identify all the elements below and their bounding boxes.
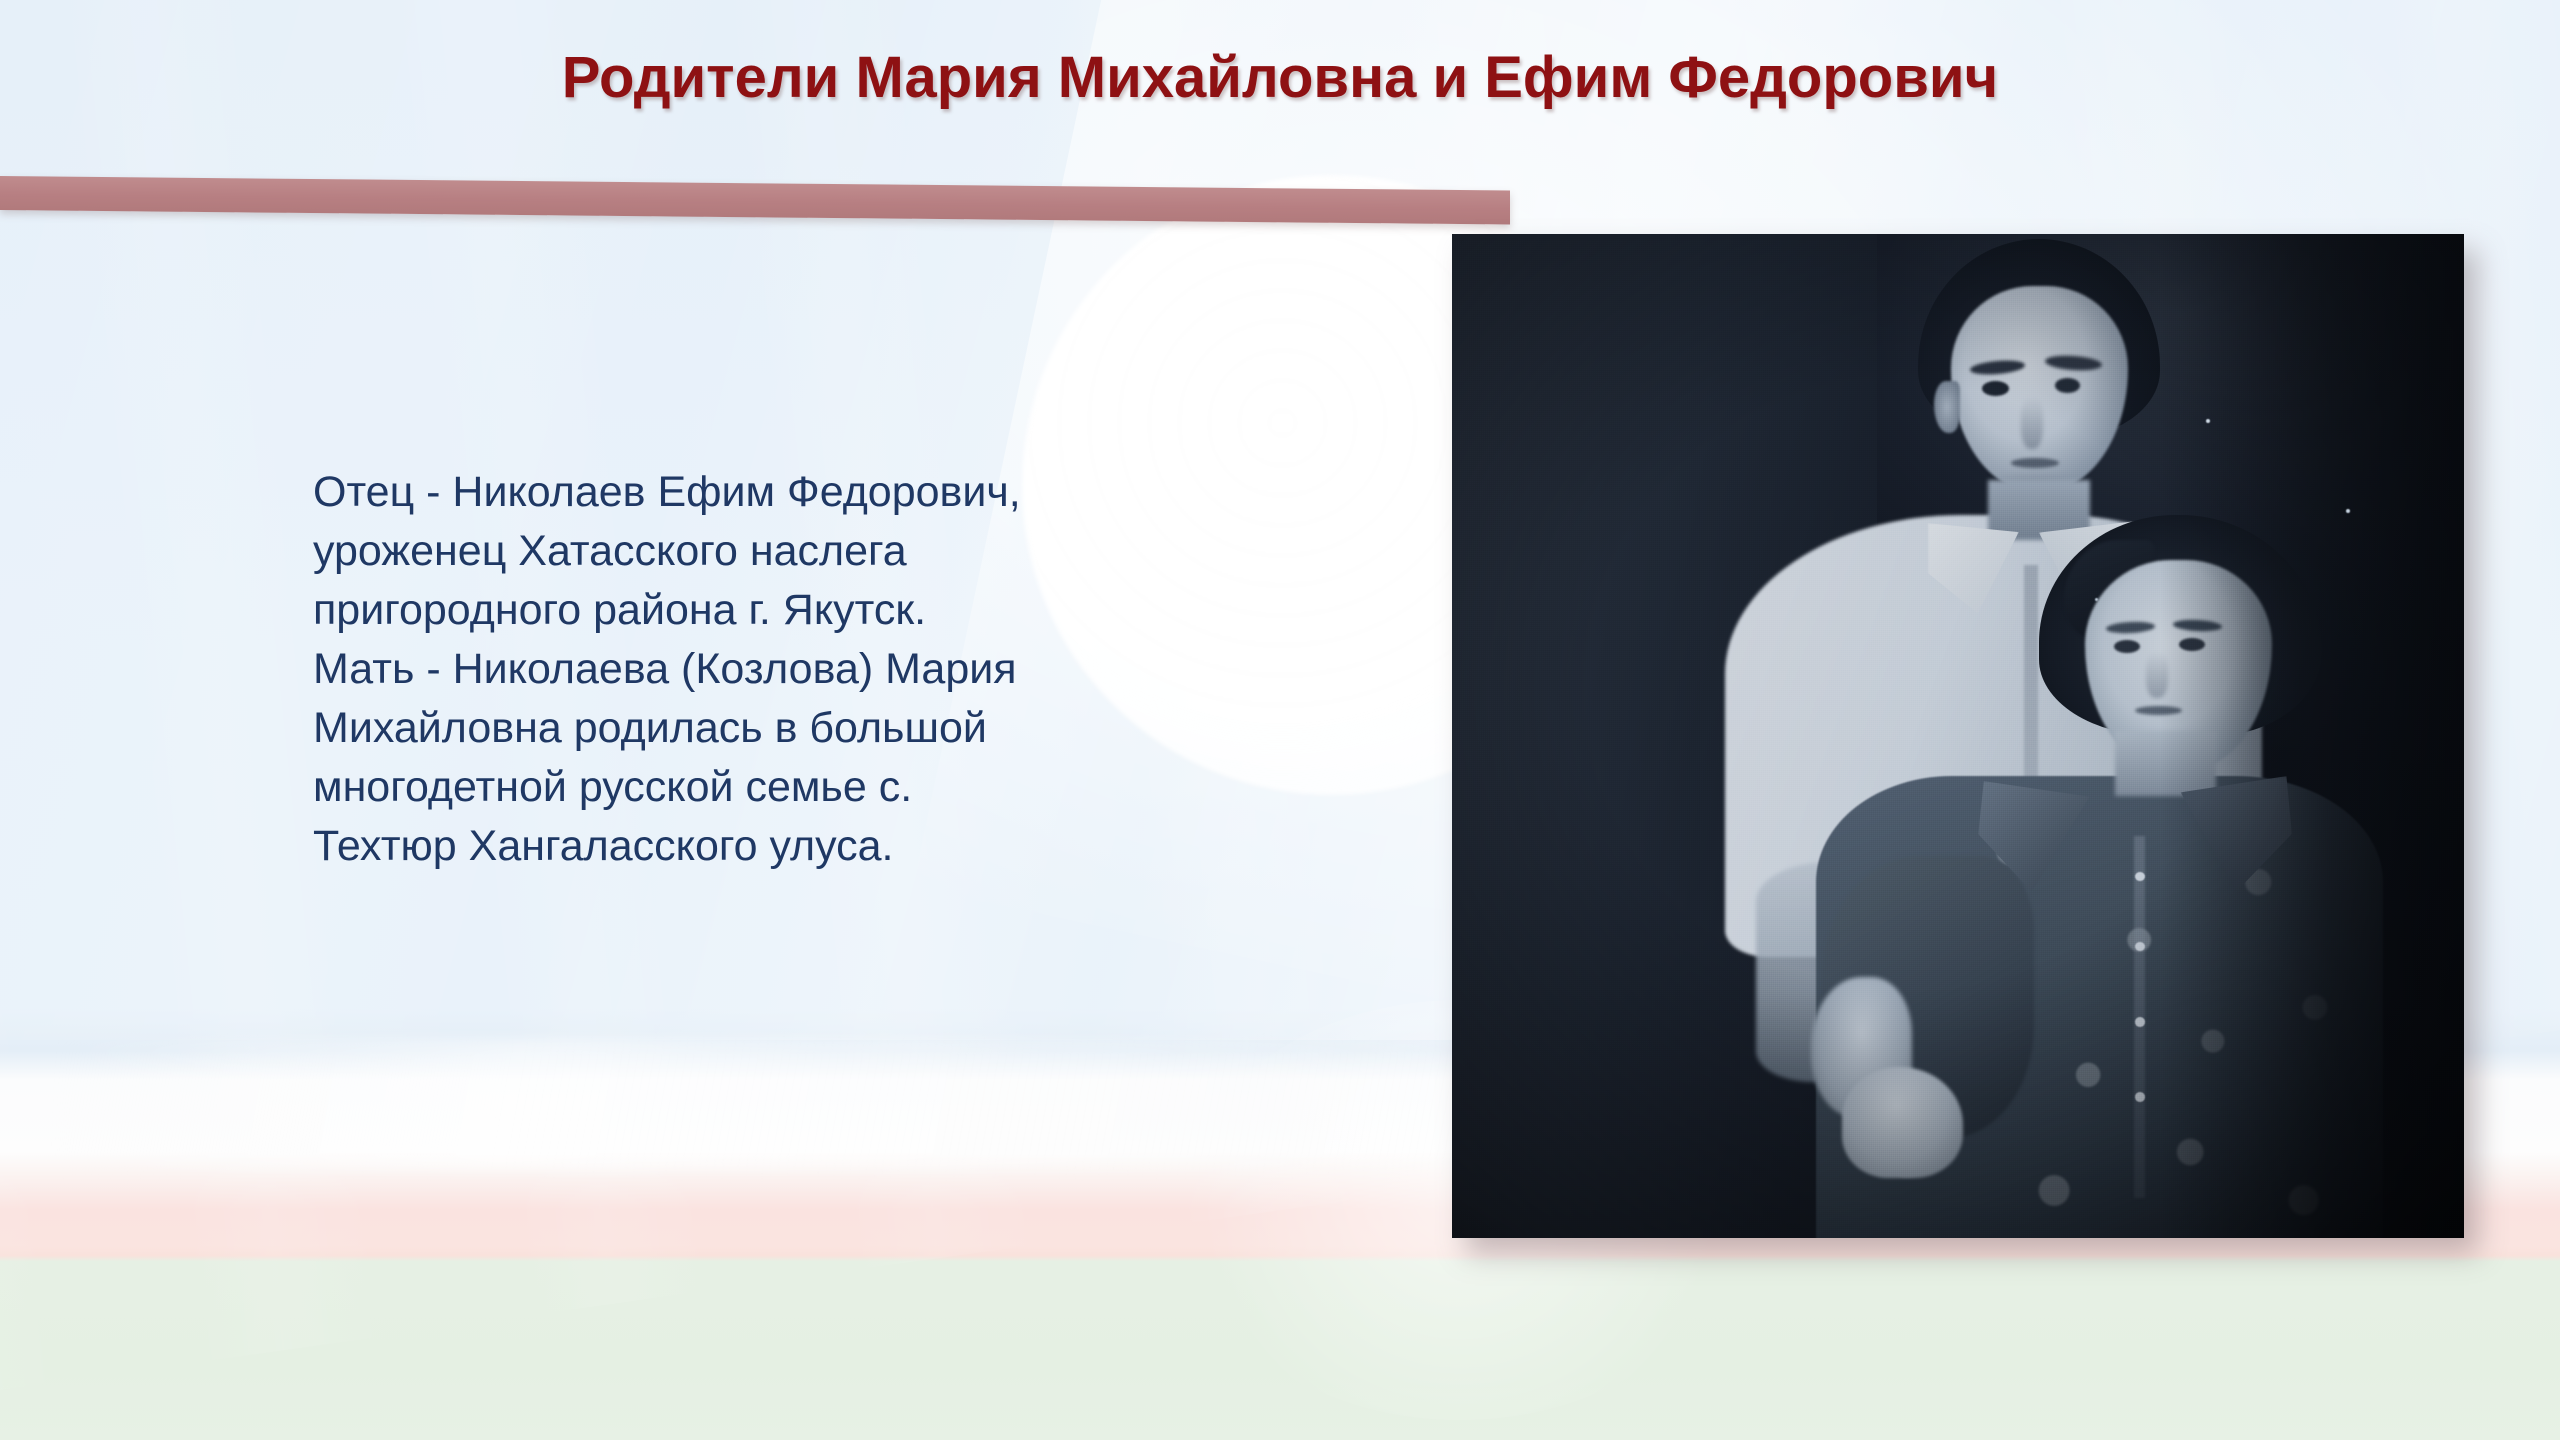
photo-speck bbox=[2206, 419, 2210, 423]
body-line: Мать - Николаева (Козлова) Мария bbox=[313, 640, 1273, 699]
background-light-streak bbox=[60, 1040, 1560, 1170]
body-line: Техтюр Хангаласского улуса. bbox=[313, 817, 1273, 876]
body-line: уроженец Хатасского наслега bbox=[313, 522, 1273, 581]
photo-film-grain bbox=[1452, 234, 2464, 1238]
page-title: Родители Мария Михайловна и Ефим Федоров… bbox=[0, 44, 2560, 111]
title-accent-bar bbox=[0, 176, 1510, 228]
accent-bar-fill bbox=[0, 176, 1510, 224]
slide-root: Родители Мария Михайловна и Ефим Федоров… bbox=[0, 0, 2560, 1440]
body-text-block: Отец - Николаев Ефим Федорович, уроженец… bbox=[313, 463, 1273, 876]
body-line: Михайловна родилась в большой bbox=[313, 699, 1273, 758]
body-line: Отец - Николаев Ефим Федорович, bbox=[313, 463, 1273, 522]
body-line: пригородного района г. Якутск. bbox=[313, 581, 1273, 640]
photo-speck bbox=[2346, 509, 2350, 513]
body-line: многодетной русской семье с. bbox=[313, 758, 1273, 817]
parents-photograph bbox=[1452, 234, 2464, 1238]
